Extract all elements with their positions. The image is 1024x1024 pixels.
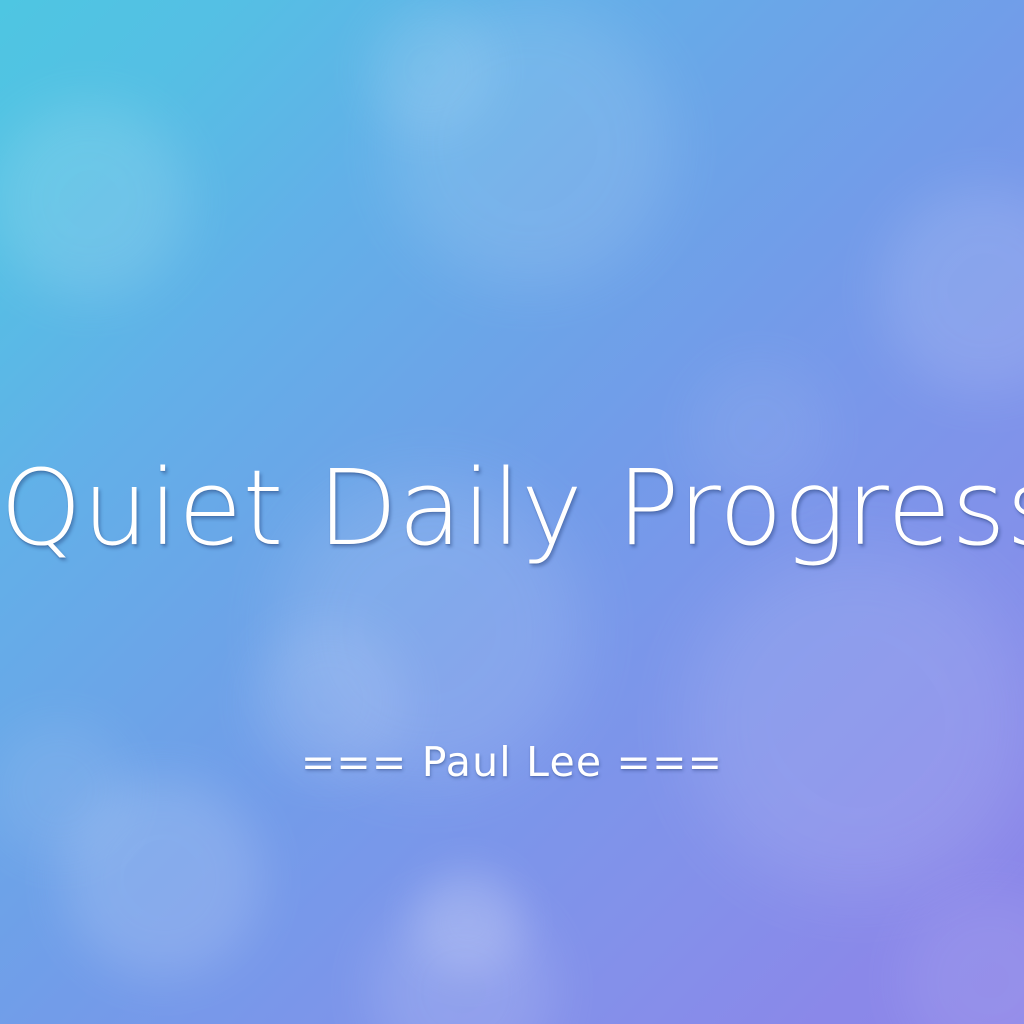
cover-text-layer: Quiet Daily Progress === Paul Lee === <box>0 0 1024 1024</box>
cover-author-line: === Paul Lee === <box>0 738 1024 787</box>
book-cover: Quiet Daily Progress === Paul Lee === <box>0 0 1024 1024</box>
page-title: Quiet Daily Progress <box>0 452 1024 564</box>
